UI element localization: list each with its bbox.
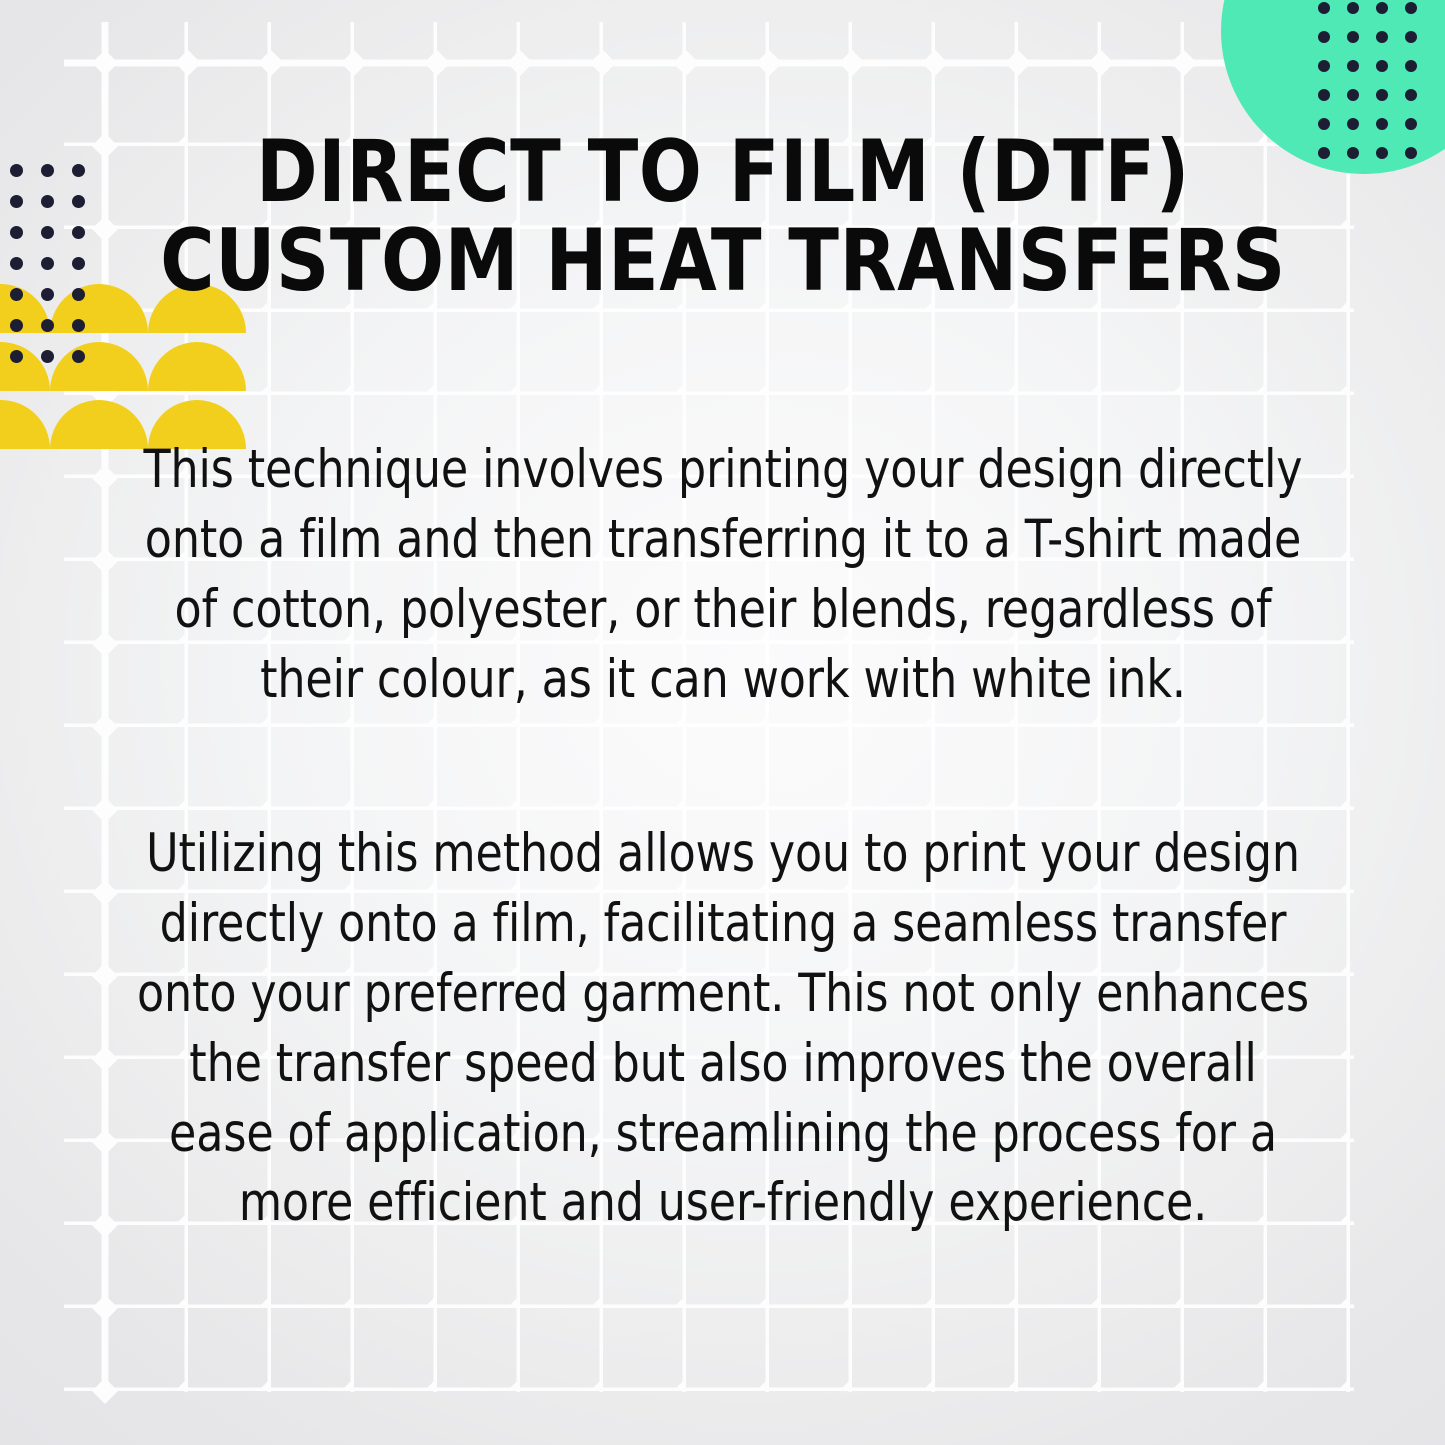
poster-content: DIRECT TO FILM (DTF) CUSTOM HEAT TRANSFE…	[0, 0, 1445, 1445]
paragraph-technique: This technique involves printing your de…	[133, 435, 1312, 715]
title-line-1: DIRECT TO FILM (DTF)	[156, 128, 1289, 217]
body-copy: This technique involves printing your de…	[89, 435, 1357, 1239]
page-title: DIRECT TO FILM (DTF) CUSTOM HEAT TRANSFE…	[133, 128, 1313, 307]
paragraph-method: Utilizing this method allows you to prin…	[133, 819, 1312, 1239]
title-line-2: CUSTOM HEAT TRANSFERS	[156, 217, 1289, 306]
poster-canvas: DIRECT TO FILM (DTF) CUSTOM HEAT TRANSFE…	[0, 0, 1445, 1445]
